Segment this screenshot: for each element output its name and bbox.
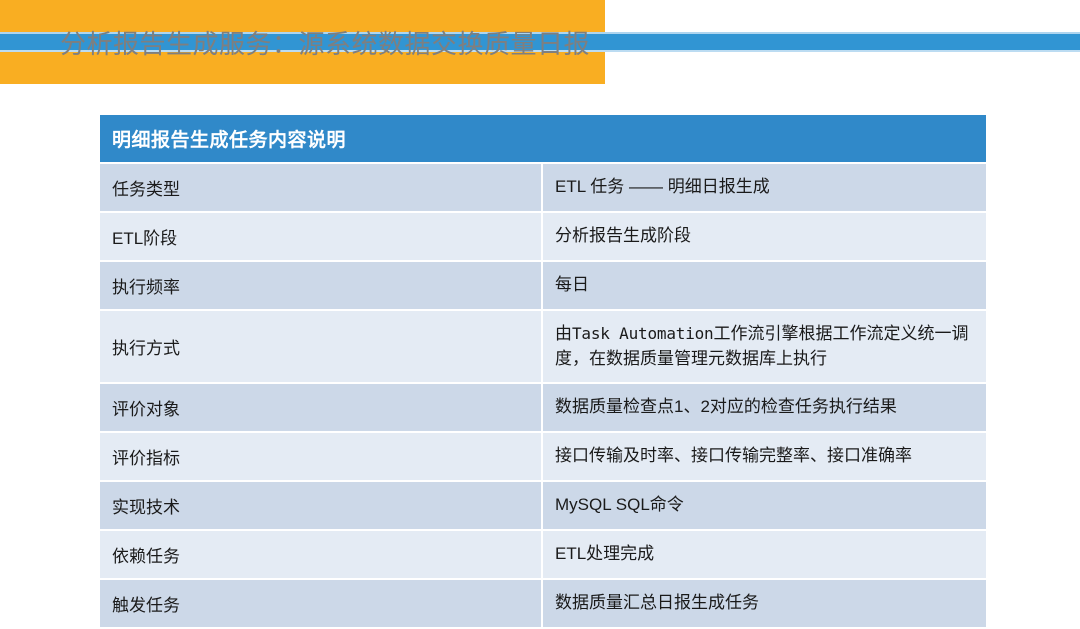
table-title: 明细报告生成任务内容说明 bbox=[100, 115, 986, 162]
table-row: ETL阶段 分析报告生成阶段 bbox=[100, 213, 986, 260]
row-label: 实现技术 bbox=[100, 482, 543, 529]
row-label: 任务类型 bbox=[100, 164, 543, 211]
row-value: 接口传输及时率、接口传输完整率、接口准确率 bbox=[543, 433, 986, 480]
table-row: 依赖任务 ETL处理完成 bbox=[100, 531, 986, 578]
mono-text: Task Automation bbox=[572, 324, 714, 343]
table-row: 执行频率 每日 bbox=[100, 262, 986, 309]
table-row: 评价指标 接口传输及时率、接口传输完整率、接口准确率 bbox=[100, 433, 986, 480]
info-table-container: 明细报告生成任务内容说明 任务类型 ETL 任务 —— 明细日报生成 ETL阶段… bbox=[100, 113, 986, 629]
table-body: 任务类型 ETL 任务 —— 明细日报生成 ETL阶段 分析报告生成阶段 执行频… bbox=[100, 164, 986, 627]
table-head: 明细报告生成任务内容说明 bbox=[100, 115, 986, 162]
table-row: 任务类型 ETL 任务 —— 明细日报生成 bbox=[100, 164, 986, 211]
row-value: 数据质量检查点1、2对应的检查任务执行结果 bbox=[543, 384, 986, 431]
row-value: ETL处理完成 bbox=[543, 531, 986, 578]
table-row: 触发任务 数据质量汇总日报生成任务 bbox=[100, 580, 986, 627]
table-title-row: 明细报告生成任务内容说明 bbox=[100, 115, 986, 162]
row-label: 依赖任务 bbox=[100, 531, 543, 578]
table-row: 评价对象 数据质量检查点1、2对应的检查任务执行结果 bbox=[100, 384, 986, 431]
row-value: ETL 任务 —— 明细日报生成 bbox=[543, 164, 986, 211]
row-value: 每日 bbox=[543, 262, 986, 309]
row-label: 执行频率 bbox=[100, 262, 543, 309]
table-row: 实现技术 MySQL SQL命令 bbox=[100, 482, 986, 529]
row-value: 由Task Automation工作流引擎根据工作流定义统一调度，在数据质量管理… bbox=[543, 311, 986, 382]
row-label: ETL阶段 bbox=[100, 213, 543, 260]
table-row: 执行方式 由Task Automation工作流引擎根据工作流定义统一调度，在数… bbox=[100, 311, 986, 382]
row-value: 数据质量汇总日报生成任务 bbox=[543, 580, 986, 627]
slide-header: 分析报告生成服务：源系统数据交换质量日报 bbox=[0, 0, 1080, 84]
row-label: 评价指标 bbox=[100, 433, 543, 480]
row-label: 评价对象 bbox=[100, 384, 543, 431]
row-label: 触发任务 bbox=[100, 580, 543, 627]
row-value: 分析报告生成阶段 bbox=[543, 213, 986, 260]
row-value: MySQL SQL命令 bbox=[543, 482, 986, 529]
page-title: 分析报告生成服务：源系统数据交换质量日报 bbox=[60, 22, 680, 66]
row-label: 执行方式 bbox=[100, 311, 543, 382]
info-table: 明细报告生成任务内容说明 任务类型 ETL 任务 —— 明细日报生成 ETL阶段… bbox=[100, 113, 986, 629]
